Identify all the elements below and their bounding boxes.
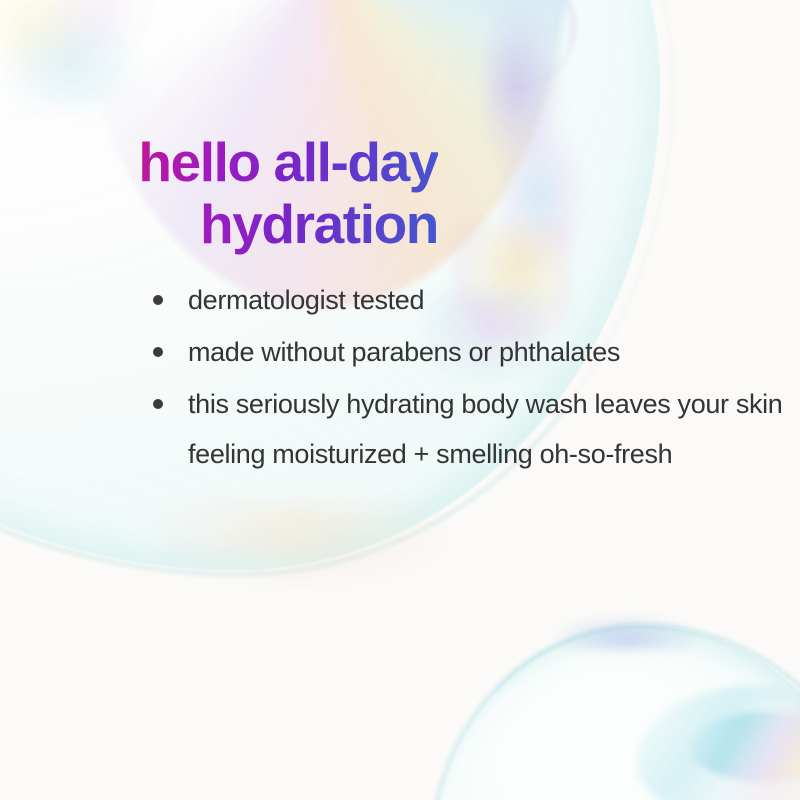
list-item: made without parabens or phthalates bbox=[152, 327, 792, 377]
benefits-list: dermatologist tested made without parabe… bbox=[152, 275, 792, 481]
headline-line-1: hello all-day bbox=[56, 131, 438, 193]
list-item: this seriously hydrating body wash leave… bbox=[152, 379, 792, 479]
benefit-text: dermatologist tested bbox=[188, 275, 792, 325]
bullet-dot-icon bbox=[153, 347, 163, 357]
bullet-dot-icon bbox=[153, 399, 163, 409]
card-content: hello all-day hydration dermatologist te… bbox=[0, 0, 800, 800]
product-benefits-card: hello all-day hydration dermatologist te… bbox=[0, 0, 800, 800]
benefit-text: made without parabens or phthalates bbox=[188, 327, 792, 377]
benefit-text: this seriously hydrating body wash leave… bbox=[188, 379, 792, 479]
list-item: dermatologist tested bbox=[152, 275, 792, 325]
page-title: hello all-day hydration bbox=[56, 131, 438, 255]
bullet-dot-icon bbox=[153, 295, 163, 305]
headline-line-2: hydration bbox=[56, 193, 438, 255]
